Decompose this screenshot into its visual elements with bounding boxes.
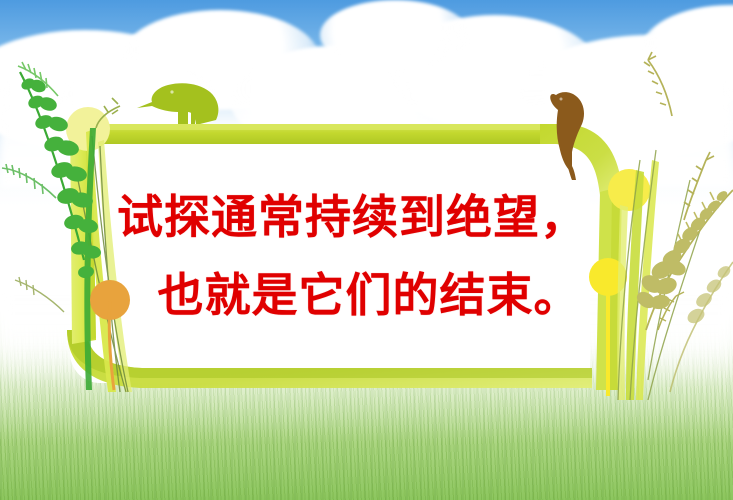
olive-spiky-frond <box>644 52 672 116</box>
green-spiky-frond <box>15 277 64 312</box>
quote-text: 试探通常持续到绝望， 也就是它们的结束。 <box>92 178 612 334</box>
poster-canvas: 试探通常持续到绝望， 也就是它们的结束。 <box>0 0 733 500</box>
bottom-frame-bar <box>67 330 592 388</box>
top-frame-bar <box>88 124 566 144</box>
green-bird <box>137 83 218 124</box>
quote-line-1: 试探通常持续到绝望， <box>92 178 612 256</box>
green-spiky-frond <box>2 164 56 198</box>
olive-leaf-branch-lower <box>670 262 733 392</box>
quote-line-2: 也就是它们的结束。 <box>92 256 612 334</box>
